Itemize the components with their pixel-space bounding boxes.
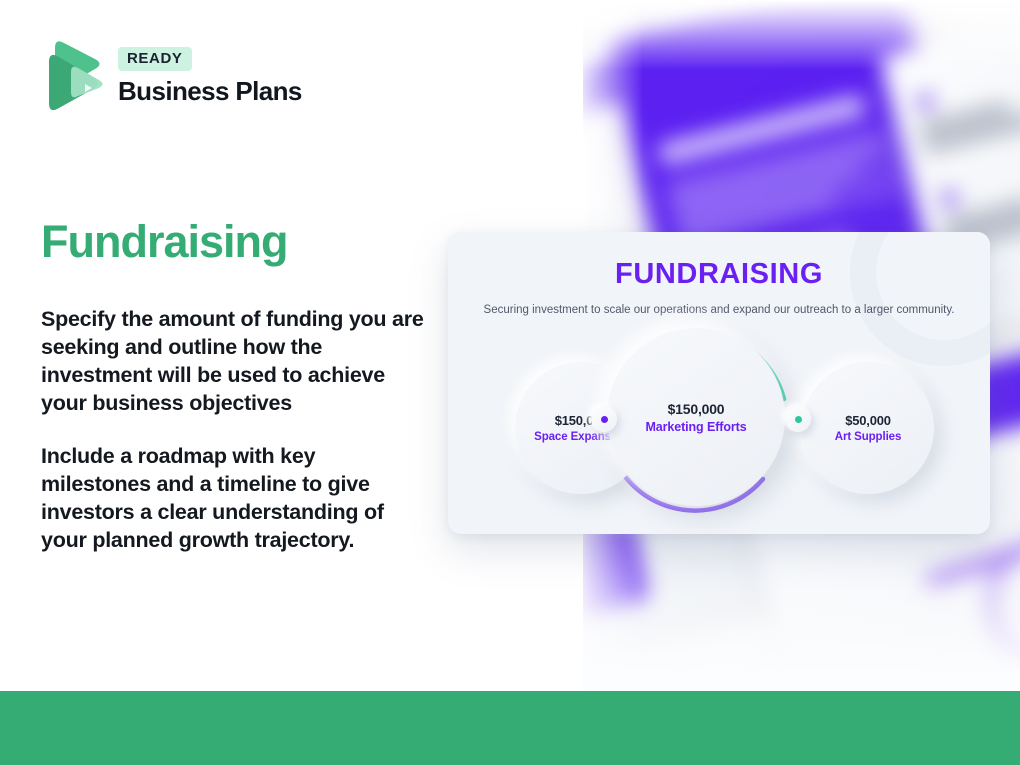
purple-dot-icon xyxy=(601,416,608,423)
connector-knob-right xyxy=(785,406,811,432)
photo-fade-top xyxy=(583,0,1020,70)
body-paragraph-1: Specify the amount of funding you are se… xyxy=(41,305,426,418)
slide-title: FUNDRAISING xyxy=(448,258,990,291)
slide-subtitle: Securing investment to scale our operati… xyxy=(448,302,990,318)
funding-label: Art Supplies xyxy=(835,431,902,443)
brand-name: Business Plans xyxy=(118,76,302,107)
funding-circle-marketing-efforts[interactable]: $150,000 Marketing Efforts xyxy=(607,328,785,506)
background-slide-dot xyxy=(940,190,958,208)
play-triangle-logo-icon xyxy=(41,38,105,116)
footer-bar xyxy=(0,691,1020,765)
funding-amount: $150,000 xyxy=(668,401,725,417)
funding-circle-art-supplies[interactable]: $50,000 Art Supplies xyxy=(802,362,934,494)
green-dot-icon xyxy=(795,416,802,423)
funding-amount: $50,000 xyxy=(845,413,891,428)
background-slide-dot xyxy=(916,93,934,111)
body-paragraph-2: Include a roadmap with key milestones an… xyxy=(41,442,426,555)
body-copy: Specify the amount of funding you are se… xyxy=(41,305,426,554)
ready-badge: READY xyxy=(118,47,192,71)
fundraising-slide-card: FUNDRAISING Securing investment to scale… xyxy=(448,232,990,534)
brand-text-block: READY Business Plans xyxy=(118,47,302,107)
page-title: Fundraising xyxy=(41,216,288,268)
photo-fade-bottom xyxy=(583,541,1020,691)
funding-circles-group: $150,000 Space Expansion $150,000 Market… xyxy=(448,350,990,525)
brand-logo-block: READY Business Plans xyxy=(41,38,302,116)
connector-knob-left xyxy=(591,406,617,432)
funding-label: Marketing Efforts xyxy=(645,420,746,434)
